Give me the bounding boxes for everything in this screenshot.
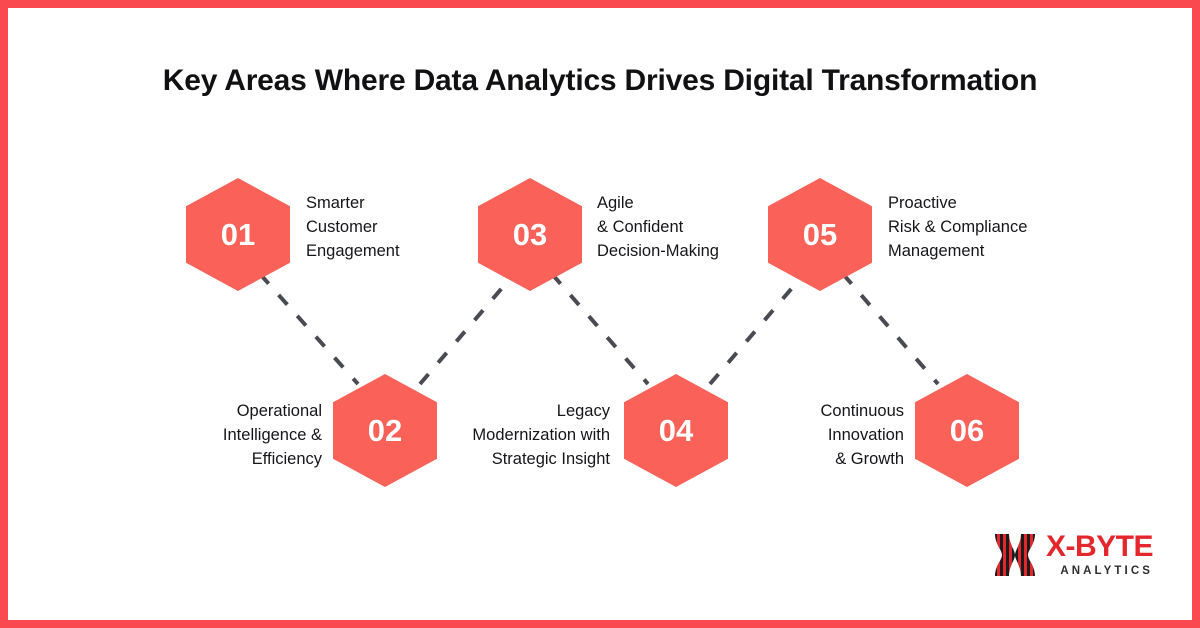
step-label-01: Smarter Customer Engagement: [306, 191, 486, 263]
connector-03-to-04: [552, 274, 648, 384]
step-number-01: 01: [221, 219, 255, 250]
step-hexagon-03[interactable]: 03: [478, 178, 582, 291]
step-number-02: 02: [368, 415, 402, 446]
step-number-06: 06: [950, 415, 984, 446]
connector-04-to-05: [710, 274, 804, 384]
step-number-03: 03: [513, 219, 547, 250]
step-number-04: 04: [659, 415, 693, 446]
infographic-canvas: Key Areas Where Data Analytics Drives Di…: [0, 0, 1200, 628]
step-label-05: Proactive Risk & Compliance Management: [888, 191, 1098, 263]
step-hexagon-06[interactable]: 06: [915, 374, 1019, 487]
connector-01-to-02: [260, 274, 358, 384]
logo-wordmark: X-BYTE: [1046, 532, 1153, 562]
step-number-05: 05: [803, 219, 837, 250]
step-hexagon-01[interactable]: 01: [186, 178, 290, 291]
step-label-06: Continuous Innovation & Growth: [718, 399, 904, 471]
step-label-04: Legacy Modernization with Strategic Insi…: [404, 399, 610, 471]
brand-logo: X-BYTE ANALYTICS: [993, 527, 1153, 583]
infographic-inner-surface: Key Areas Where Data Analytics Drives Di…: [8, 8, 1192, 620]
connector-05-to-06: [843, 274, 938, 384]
logo-text-block: X-BYTE ANALYTICS: [1046, 532, 1153, 578]
connector-02-to-03: [420, 274, 514, 384]
x-byte-hourglass-icon: [993, 532, 1037, 578]
step-label-03: Agile & Confident Decision-Making: [597, 191, 797, 263]
page-title: Key Areas Where Data Analytics Drives Di…: [8, 64, 1192, 98]
logo-subtitle: ANALYTICS: [1046, 566, 1153, 578]
step-label-02: Operational Intelligence & Efficiency: [138, 399, 322, 471]
step-hexagon-04[interactable]: 04: [624, 374, 728, 487]
